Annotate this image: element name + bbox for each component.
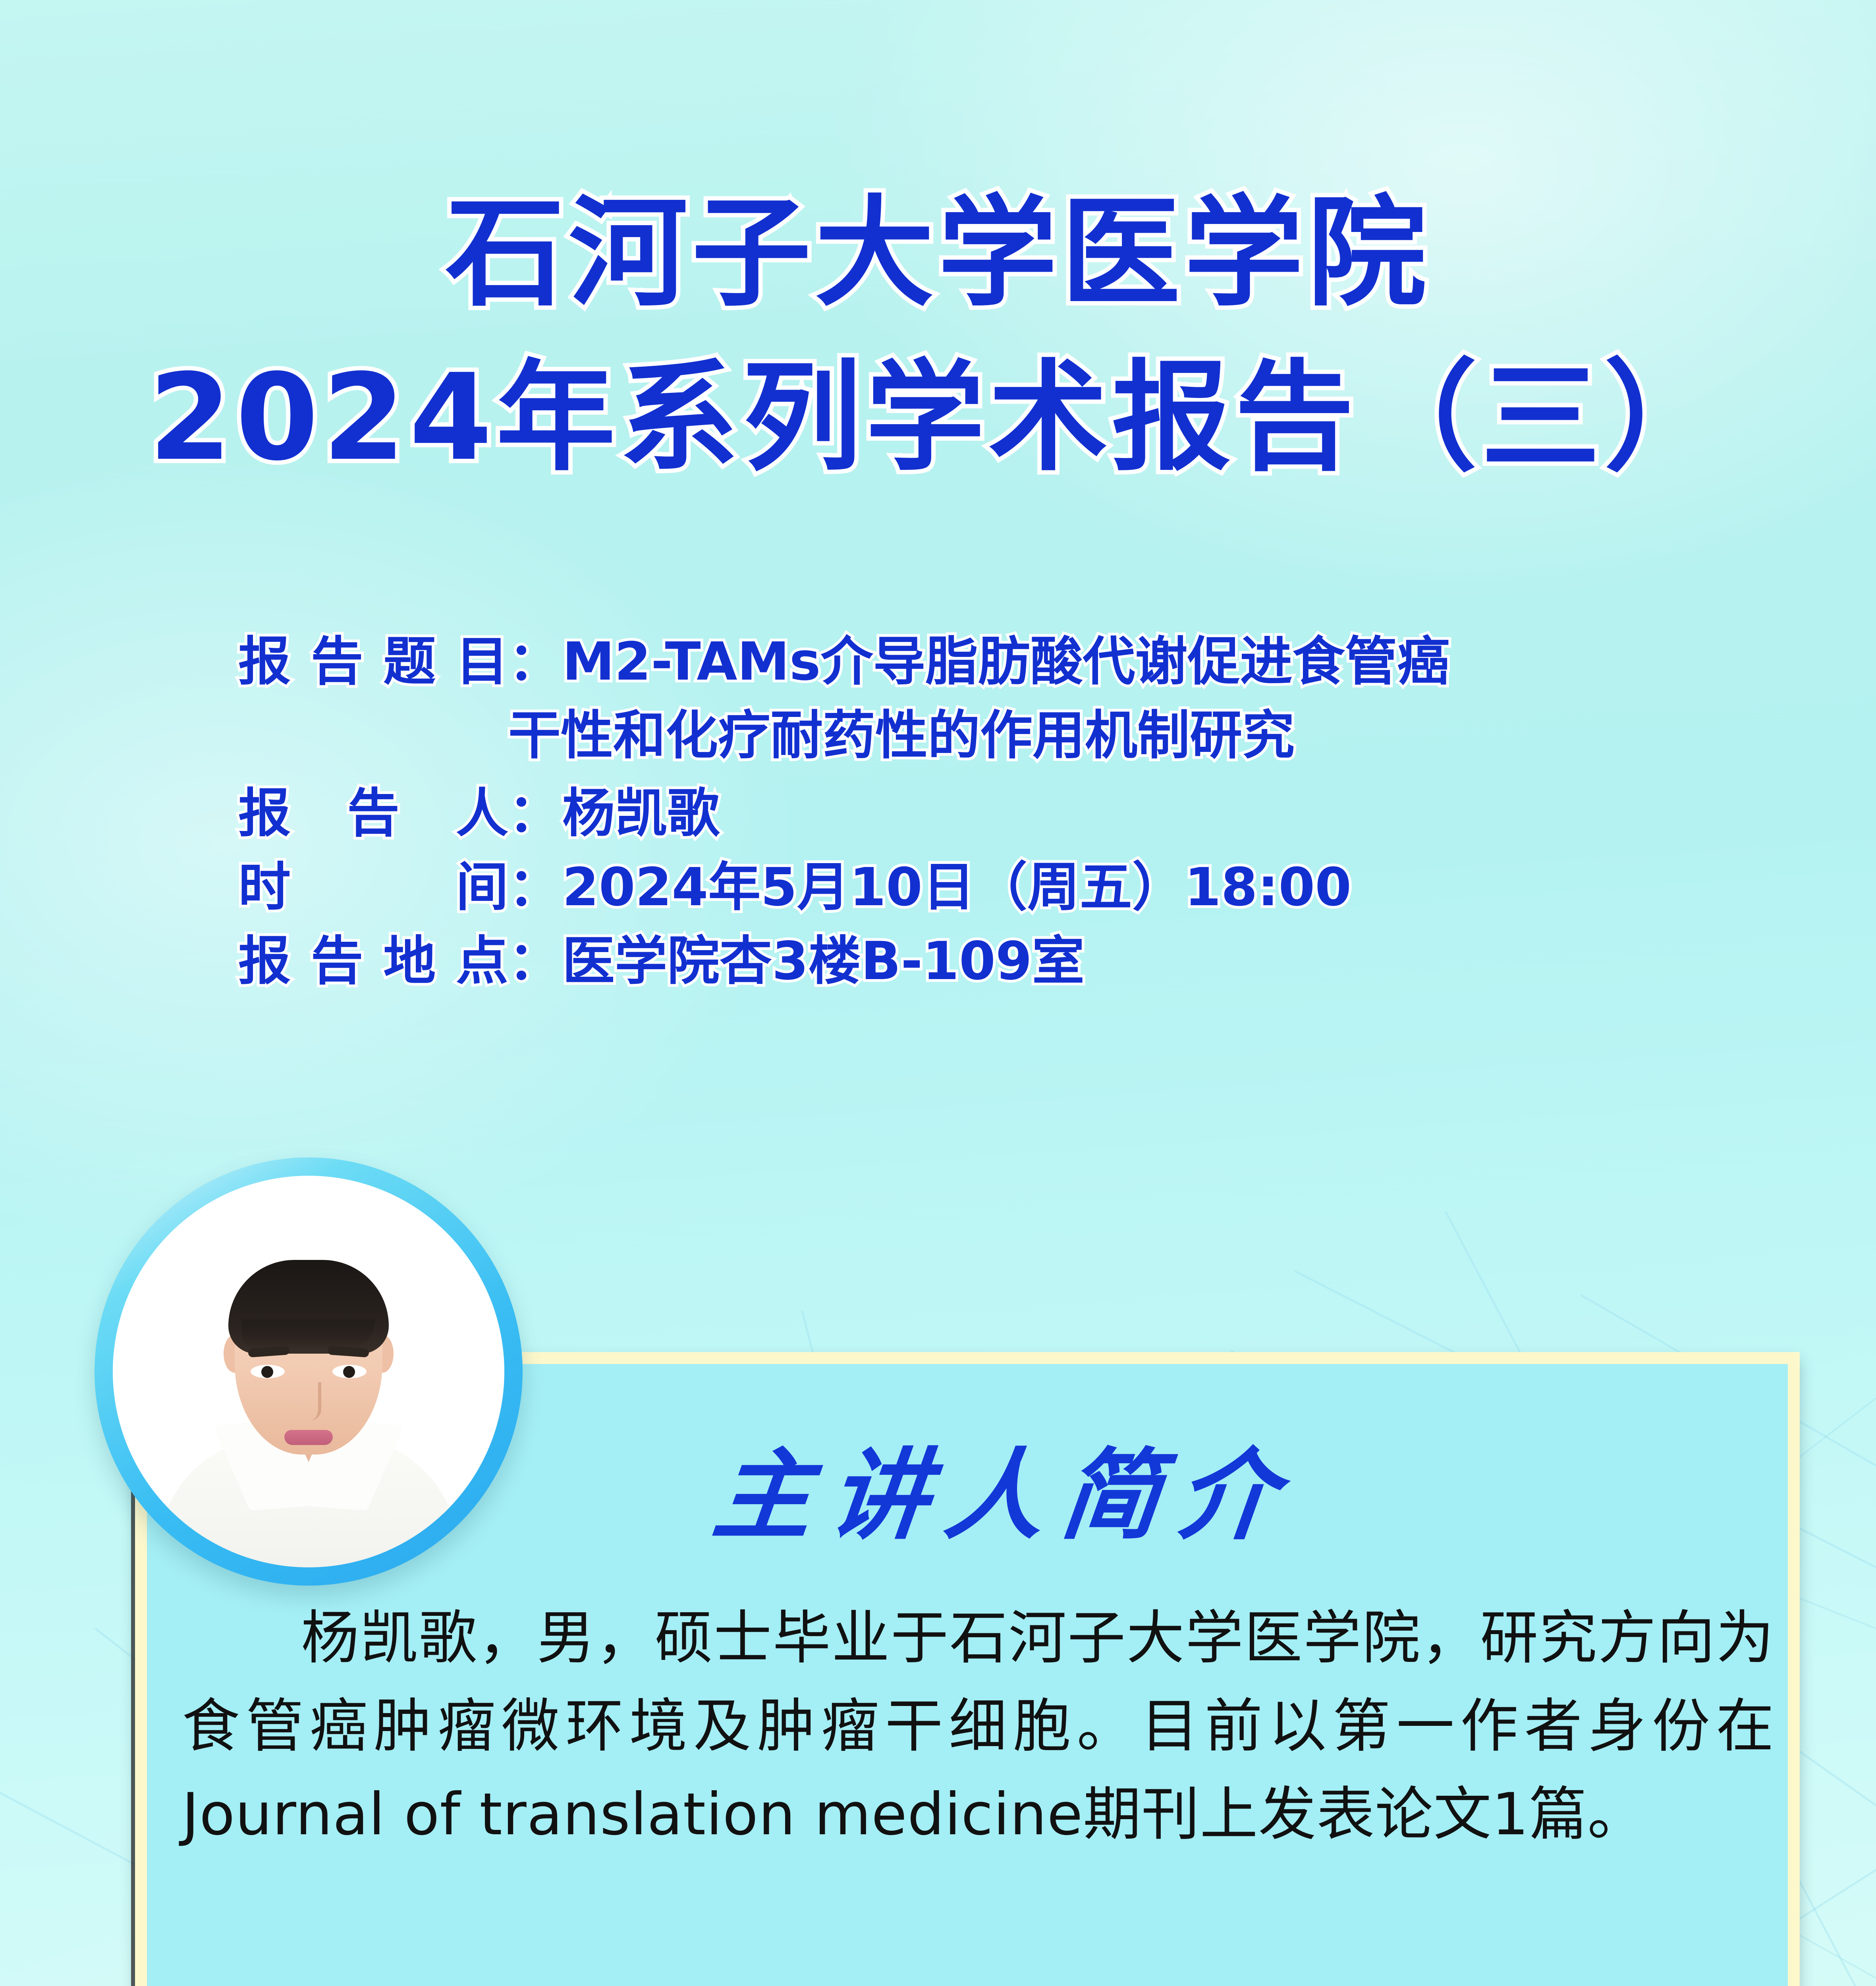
portrait-mouth xyxy=(284,1430,333,1445)
avatar-portrait xyxy=(113,1176,504,1567)
portrait-hair xyxy=(228,1260,389,1354)
event-details: 报告题目 ： M2-TAMs介导脂肪酸代谢促进食管癌 干性和化疗耐药性的作用机制… xyxy=(238,636,1787,1009)
speaker-label: 报告人 xyxy=(238,787,508,840)
title-line-2: 2024年系列学术报告（三） xyxy=(0,339,1876,496)
detail-row-topic: 报告题目 ： M2-TAMs介导脂肪酸代谢促进食管癌 xyxy=(238,636,1787,688)
time-colon: ： xyxy=(508,861,561,914)
poster-title: 石河子大学医学院 2024年系列学术报告（三） xyxy=(0,175,1876,496)
portrait-eye-right xyxy=(332,1365,367,1378)
portrait-nose xyxy=(296,1382,321,1420)
topic-value-line2: 干性和化疗耐药性的作用机制研究 xyxy=(508,709,1787,762)
venue-label: 报告地点 xyxy=(238,935,508,987)
topic-value-line1: M2-TAMs介导脂肪酸代谢促进食管癌 xyxy=(562,636,1449,688)
portrait-eye-left xyxy=(251,1365,285,1378)
title-line-1: 石河子大学医学院 xyxy=(0,175,1876,332)
venue-colon: ： xyxy=(508,935,561,987)
speaker-value: 杨凯歌 xyxy=(562,787,720,840)
detail-row-venue: 报告地点 ： 医学院杏3楼B-109室 xyxy=(238,935,1787,987)
speaker-avatar xyxy=(95,1157,523,1586)
time-label: 时间 xyxy=(238,861,508,914)
speaker-colon: ： xyxy=(508,787,561,840)
speaker-bio-text: 杨凯歌，男，硕士毕业于石河子大学医学院，研究方向为食管癌肿瘤微环境及肿瘤干细胞。… xyxy=(182,1594,1774,1859)
poster-root: 石河子大学医学院 2024年系列学术报告（三） 报告题目 ： M2-TAMs介导… xyxy=(0,0,1876,1986)
detail-row-time: 时间 ： 2024年5月10日（周五）18:00 xyxy=(238,861,1787,914)
detail-row-speaker: 报告人 ： 杨凯歌 xyxy=(238,787,1787,840)
speaker-bio-heading: 主讲人简介 xyxy=(707,1416,1302,1558)
topic-label: 报告题目 xyxy=(238,636,508,688)
venue-value: 医学院杏3楼B-109室 xyxy=(562,935,1085,987)
time-value: 2024年5月10日（周五）18:00 xyxy=(562,861,1351,914)
topic-colon: ： xyxy=(508,636,561,688)
